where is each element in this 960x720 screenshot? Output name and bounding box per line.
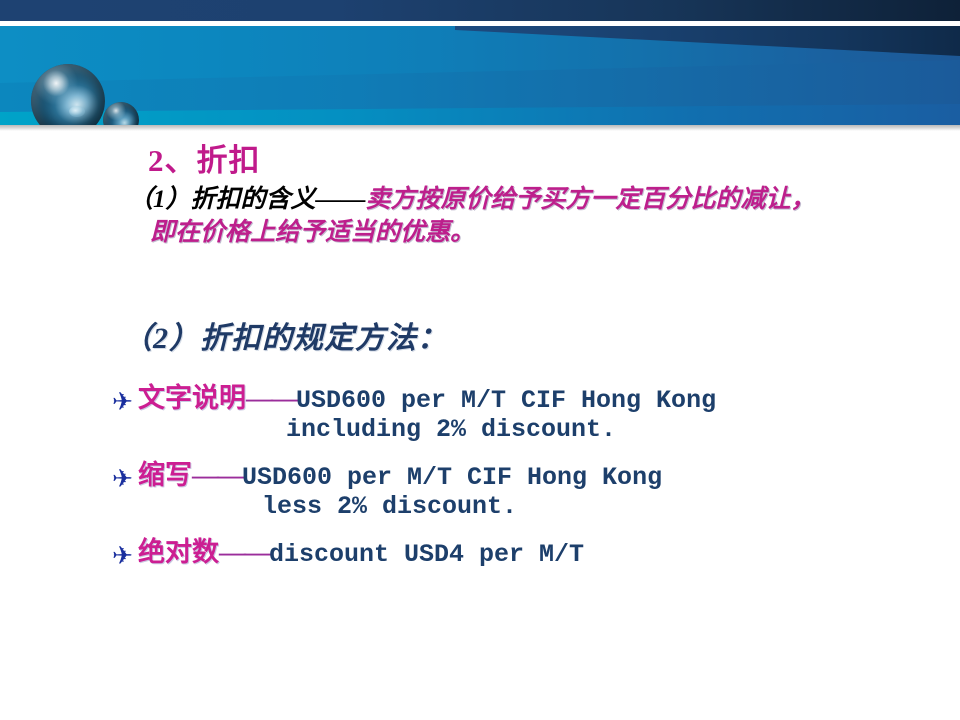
list-item-value: discount USD4 per M/T <box>269 540 584 569</box>
section-heading-methods: （2）折扣的规定方法： <box>122 313 448 357</box>
list-item-value: USD600 per M/T CIF Hong Kong <box>296 386 716 415</box>
list-item-label: 文字说明 <box>138 383 246 413</box>
definition-label: （1）折扣的含义—— <box>128 186 366 213</box>
definition-paragraph: （1）折扣的含义——卖方按原价给予买方一定百分比的减让， 即在价格上给予适当的优… <box>128 183 928 249</box>
list-item-continuation-text: including 2% discount. <box>286 415 616 444</box>
list-item-continuation: less 2% discount. <box>112 492 942 530</box>
definition-text-line2: 即在价格上给予适当的优惠。 <box>128 216 928 249</box>
slide-canvas: 2、折扣 （1）折扣的含义——卖方按原价给予买方一定百分比的减让， 即在价格上给… <box>0 0 960 720</box>
list-item-continuation-text: less 2% discount. <box>262 492 517 521</box>
header-topbar <box>0 0 960 21</box>
list-item: ✈文字说明——USD600 per M/T CIF Hong Kong <box>112 376 942 415</box>
page-title: 2、折扣 <box>148 135 261 180</box>
slide-body: 2、折扣 （1）折扣的含义——卖方按原价给予买方一定百分比的减让， 即在价格上给… <box>0 131 960 720</box>
banner-dark-wedge <box>0 26 960 125</box>
list-item-dash: —— <box>246 383 296 413</box>
list-item: ✈缩写——USD600 per M/T CIF Hong Kong <box>112 453 942 492</box>
list-item: ✈绝对数——discount USD4 per M/T <box>112 530 942 569</box>
list-item-dash: —— <box>219 537 269 567</box>
list-item-label: 缩写 <box>138 460 192 490</box>
list-item-label: 绝对数 <box>138 537 219 567</box>
methods-list: ✈文字说明——USD600 per M/T CIF Hong Kong incl… <box>112 376 942 569</box>
airplane-bullet-icon: ✈ <box>112 390 138 415</box>
list-item-dash: —— <box>192 460 242 490</box>
list-item-value: USD600 per M/T CIF Hong Kong <box>242 463 662 492</box>
list-item-continuation: including 2% discount. <box>112 415 942 453</box>
airplane-bullet-icon: ✈ <box>112 544 138 569</box>
definition-text-line1: 卖方按原价给予买方一定百分比的减让， <box>366 186 816 213</box>
header-banner <box>0 26 960 125</box>
airplane-bullet-icon: ✈ <box>112 467 138 492</box>
